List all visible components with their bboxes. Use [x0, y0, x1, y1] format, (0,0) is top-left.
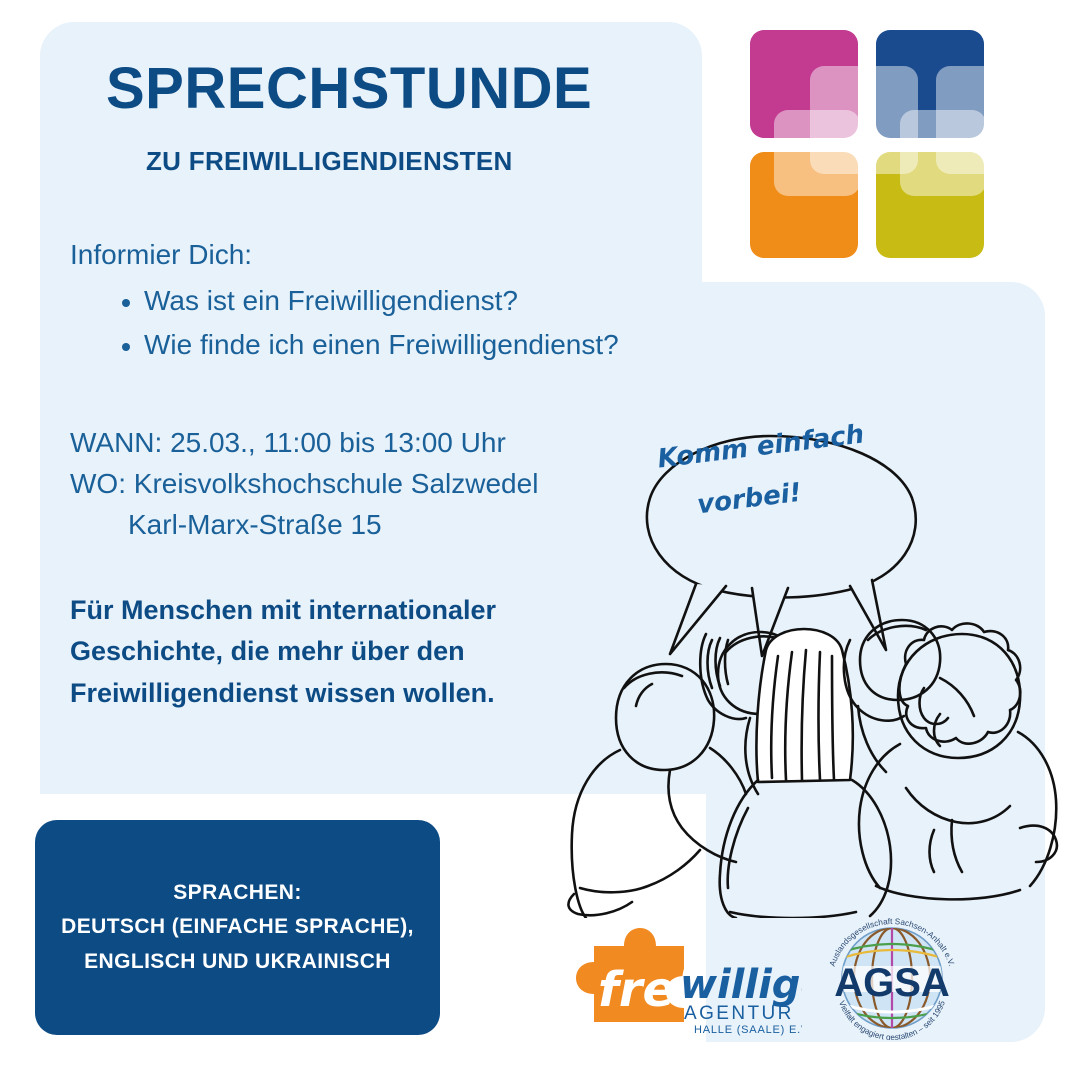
freiwilligenagentur-logo: frei willigen AGENTUR HALLE (SAALE) E.V.	[572, 918, 802, 1036]
list-item: Was ist ein Freiwilligendienst?	[122, 285, 710, 317]
logo-word-agentur: AGENTUR	[684, 1003, 794, 1024]
logo-word-frei: frei	[598, 962, 692, 1018]
agsa-acronym: AGSA	[834, 961, 950, 1005]
page-subtitle: ZU FREIWILLIGENDIENSTEN	[146, 146, 710, 177]
logo-word-city: HALLE (SAALE) E.V.	[694, 1024, 802, 1036]
agsa-logo: AGSA Auslandsgesellschaft Sachsen-Anhalt…	[812, 912, 972, 1040]
languages-line: ENGLISCH UND UKRAINISCH	[84, 945, 391, 979]
languages-line: SPRACHEN:	[173, 876, 301, 910]
info-bullet-list: Was ist ein Freiwilligendienst? Wie find…	[70, 285, 710, 361]
lead-text: Informier Dich:	[70, 239, 710, 271]
logo-word-willigen: willigen	[680, 962, 802, 1008]
list-item: Wie finde ich einen Freiwilligendienst?	[122, 329, 710, 361]
languages-line: DEUTSCH (EINFACHE SPRACHE),	[61, 910, 414, 944]
four-squares-logo	[748, 28, 986, 260]
languages-box: SPRACHEN: DEUTSCH (EINFACHE SPRACHE), EN…	[35, 820, 440, 1035]
people-group-illustration	[520, 388, 1060, 918]
page-title: SPRECHSTUNDE	[106, 60, 710, 118]
